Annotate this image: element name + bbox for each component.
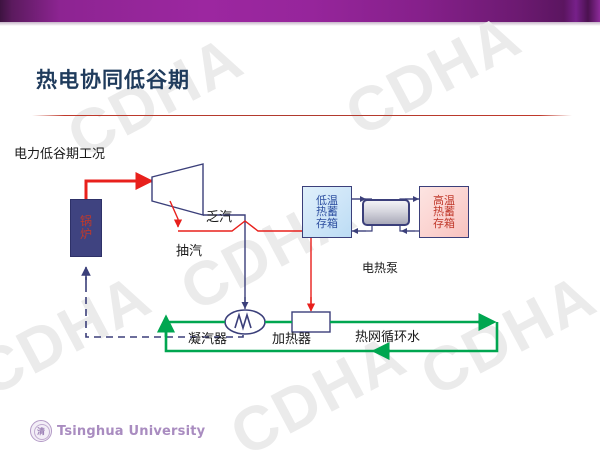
page-title: 热电协同低谷期 xyxy=(36,64,190,94)
tsinghua-logo-text: Tsinghua University xyxy=(57,424,205,439)
boiler-box: 锅 炉 xyxy=(70,199,102,257)
hot-tank-line3: 存箱 xyxy=(433,218,455,230)
label-condenser: 凝汽器 xyxy=(188,328,227,347)
label-extraction-steam: 抽汽 xyxy=(176,240,202,259)
tsinghua-emblem-icon: 清 xyxy=(30,420,52,442)
main-steam-line xyxy=(86,181,152,199)
slide-canvas: CDHA CDHA CDHA CDHA CDHA CDHA 热电协同低谷期 电力… xyxy=(0,0,600,450)
exhaust-steam-line xyxy=(203,215,245,309)
cold-tank-line3: 存箱 xyxy=(316,218,338,230)
title-divider xyxy=(32,115,572,116)
label-heat-pump: 电热泵 xyxy=(362,259,398,276)
cold-storage-tank: 低温 热蓄 存箱 xyxy=(302,186,352,238)
header-accent-bar xyxy=(0,0,600,22)
label-heat-network-water: 热网循环水 xyxy=(355,326,420,345)
label-exhaust-steam: 乏汽 xyxy=(206,206,232,225)
condenser-symbol xyxy=(225,310,265,334)
heat-pump-body xyxy=(362,199,410,226)
emblem-glyph: 清 xyxy=(37,426,45,437)
condensate-return-line xyxy=(86,267,243,337)
hot-storage-tank: 高温 热蓄 存箱 xyxy=(419,186,469,238)
label-heater: 加热器 xyxy=(272,328,311,347)
tsinghua-logo: 清 Tsinghua University xyxy=(30,420,205,442)
boiler-label-line2: 炉 xyxy=(80,228,92,241)
process-diagram xyxy=(0,155,600,385)
steam-turbine-shape xyxy=(152,164,203,215)
